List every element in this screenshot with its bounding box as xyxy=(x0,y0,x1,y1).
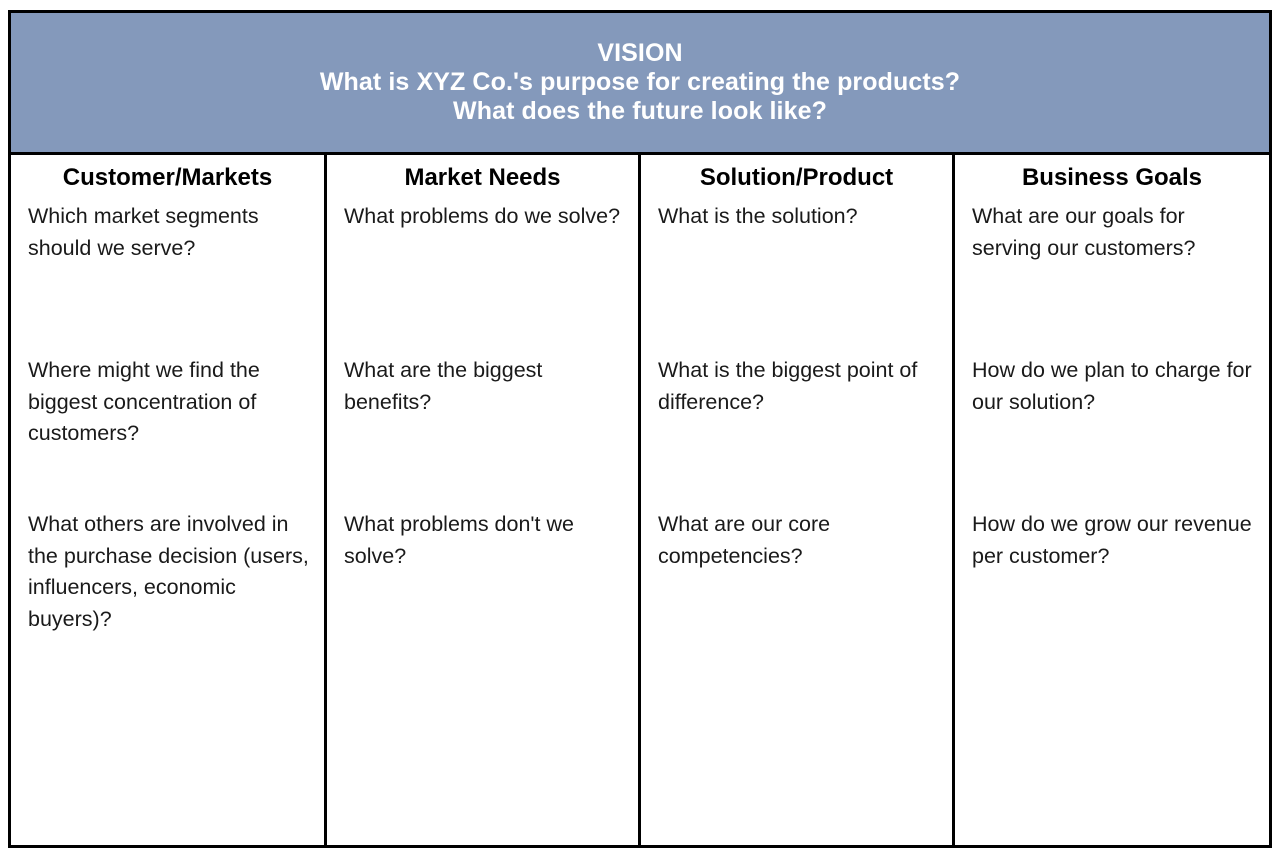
question-customer-markets-1: Which market segments should we serve? xyxy=(28,201,314,264)
vision-board: VISION What is XYZ Co.'s purpose for cre… xyxy=(8,10,1272,848)
vision-question-purpose: What is XYZ Co.'s purpose for creating t… xyxy=(320,68,960,97)
question-solution-product-1: What is the solution? xyxy=(658,201,942,233)
column-customer-markets: Customer/Markets Which market segments s… xyxy=(11,155,327,845)
question-solution-product-3: What are our core competencies? xyxy=(658,509,942,572)
column-header-market-needs: Market Needs xyxy=(327,165,638,191)
question-market-needs-2: What are the biggest benefits? xyxy=(344,355,628,418)
question-customer-markets-2: Where might we find the biggest concentr… xyxy=(28,355,314,450)
column-header-business-goals: Business Goals xyxy=(955,165,1269,191)
column-solution-product: Solution/Product What is the solution? W… xyxy=(641,155,955,845)
question-business-goals-1: What are our goals for serving our custo… xyxy=(972,201,1259,264)
column-market-needs: Market Needs What problems do we solve? … xyxy=(327,155,641,845)
vision-title: VISION xyxy=(597,39,682,68)
question-business-goals-3: How do we grow our revenue per customer? xyxy=(972,509,1259,572)
column-header-solution-product: Solution/Product xyxy=(641,165,952,191)
question-customer-markets-3: What others are involved in the purchase… xyxy=(28,509,314,635)
column-header-customer-markets: Customer/Markets xyxy=(11,165,324,191)
question-market-needs-3: What problems don't we solve? xyxy=(344,509,628,572)
column-business-goals: Business Goals What are our goals for se… xyxy=(955,155,1269,845)
vision-matrix: Customer/Markets Which market segments s… xyxy=(8,155,1272,848)
vision-banner: VISION What is XYZ Co.'s purpose for cre… xyxy=(8,10,1272,155)
question-solution-product-2: What is the biggest point of difference? xyxy=(658,355,942,418)
question-market-needs-1: What problems do we solve? xyxy=(344,201,628,233)
vision-question-future: What does the future look like? xyxy=(453,97,827,126)
question-business-goals-2: How do we plan to charge for our solutio… xyxy=(972,355,1259,418)
